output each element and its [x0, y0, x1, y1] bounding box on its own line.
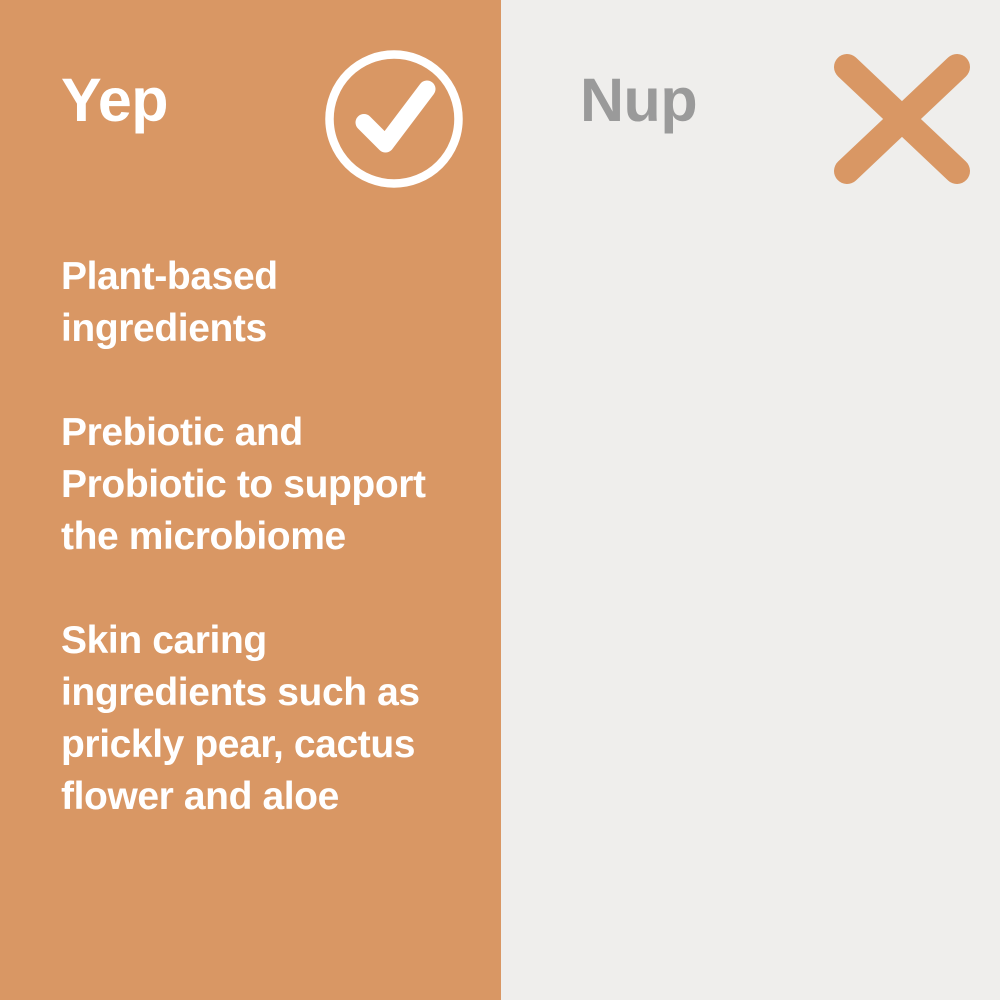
cross-icon — [832, 54, 972, 184]
panel-yep-heading: Yep — [61, 70, 168, 131]
panel-yep-benefit-list: Plant-based ingredients Prebiotic and Pr… — [61, 251, 451, 823]
check-circle-icon — [323, 48, 465, 190]
panel-yep-header: Yep — [0, 0, 501, 210]
list-item: Plant-based ingredients — [61, 251, 451, 355]
comparison-board: Yep Plant-based ingredients Prebiotic an… — [0, 0, 1000, 1000]
panel-yep: Yep Plant-based ingredients Prebiotic an… — [0, 0, 501, 1000]
list-item: Skin caring ingredients such as prickly … — [61, 615, 451, 823]
list-item: Prebiotic and Probiotic to support the m… — [61, 407, 451, 563]
panel-nup-heading: Nup — [580, 70, 697, 131]
